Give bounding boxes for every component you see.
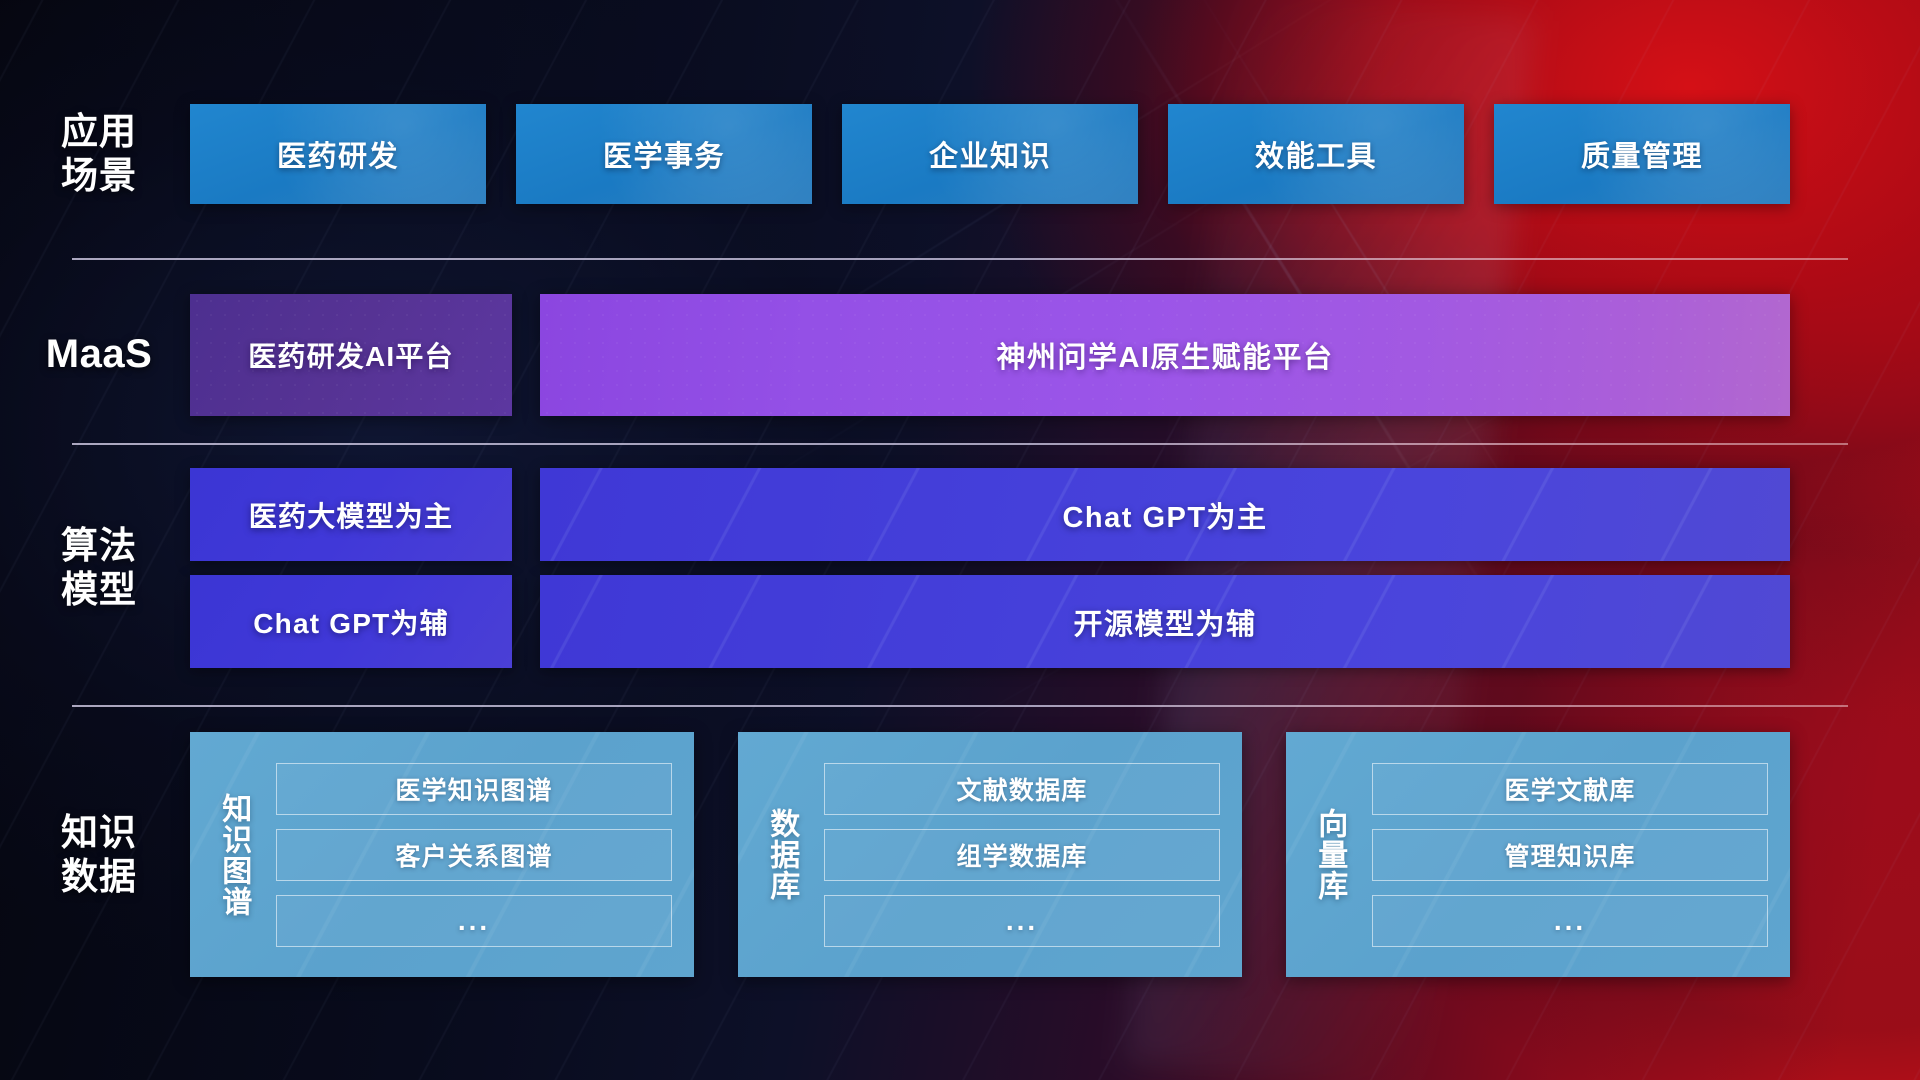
maas-platform-pharma[interactable]: 医药研发AI平台 [190,294,512,416]
algorithm-primary-right[interactable]: Chat GPT为主 [540,468,1790,561]
algorithm-secondary-right[interactable]: 开源模型为辅 [540,575,1790,668]
knowledge-card-database[interactable]: 数据库 文献数据库 组学数据库 ... [738,732,1242,977]
layer-algorithm: 算法 模型 医药大模型为主 Chat GPT为主 Chat GPT为辅 开源模型… [0,468,1920,668]
layer-knowledge: 知识 数据 知识图谱 医学知识图谱 客户关系图谱 ... 数据库 文献数据库 组… [0,732,1920,977]
knowledge-chip-more[interactable]: ... [276,895,672,947]
knowledge-card-title: 知识图谱 [204,748,262,961]
knowledge-chip-list: 医学文献库 管理知识库 ... [1372,748,1768,961]
algorithm-secondary-left[interactable]: Chat GPT为辅 [190,575,512,668]
knowledge-chip-label: 医学文献库 [1504,771,1635,807]
scenario-box[interactable]: 医药研发 [190,104,486,204]
knowledge-chip-label: 医学知识图谱 [395,771,552,807]
knowledge-chip-list: 文献数据库 组学数据库 ... [824,748,1220,961]
knowledge-card-title: 向量库 [1300,748,1358,961]
scenario-box[interactable]: 质量管理 [1494,104,1790,204]
knowledge-chip-label: ... [458,905,490,937]
knowledge-chip[interactable]: 客户关系图谱 [276,829,672,881]
maas-platform-pharma-label: 医药研发AI平台 [248,335,454,375]
scenario-box[interactable]: 效能工具 [1168,104,1464,204]
knowledge-chip-label: 管理知识库 [1504,837,1635,873]
layer-maas: MaaS 医药研发AI平台 神州问学AI原生赋能平台 [0,294,1920,416]
knowledge-chip-label: 客户关系图谱 [395,837,552,873]
algorithm-secondary-left-label: Chat GPT为辅 [253,602,449,642]
scenario-box-label: 医药研发 [277,133,399,175]
layer-divider-2 [72,443,1848,445]
knowledge-card-vector[interactable]: 向量库 医学文献库 管理知识库 ... [1286,732,1790,977]
algorithm-secondary-right-label: 开源模型为辅 [1073,601,1256,643]
knowledge-chip-label: ... [1006,905,1038,937]
algorithm-primary-left[interactable]: 医药大模型为主 [190,468,512,561]
algorithm-row: Chat GPT为辅 开源模型为辅 [190,575,1790,668]
knowledge-chip[interactable]: 医学文献库 [1372,763,1768,815]
layer-label-scenarios: 应用 场景 [0,110,190,197]
layer-divider-1 [72,258,1848,260]
knowledge-chip[interactable]: 医学知识图谱 [276,763,672,815]
scenario-box-label: 医学事务 [603,133,725,175]
knowledge-card-group: 知识图谱 医学知识图谱 客户关系图谱 ... 数据库 文献数据库 组学数据库 .… [190,732,1790,977]
scenario-box[interactable]: 企业知识 [842,104,1138,204]
algorithm-primary-left-label: 医药大模型为主 [249,495,453,535]
scenario-box-label: 质量管理 [1581,133,1703,175]
layer-label-maas: MaaS [0,331,190,378]
knowledge-chip[interactable]: 文献数据库 [824,763,1220,815]
scenario-box-label: 企业知识 [929,133,1051,175]
maas-platform-shenzhou[interactable]: 神州问学AI原生赋能平台 [540,294,1790,416]
algorithm-primary-right-label: Chat GPT为主 [1062,494,1267,536]
knowledge-chip-label: 文献数据库 [956,771,1087,807]
layer-scenarios: 应用 场景 医药研发 医学事务 企业知识 效能工具 质量管理 [0,104,1920,204]
knowledge-chip-more[interactable]: ... [824,895,1220,947]
knowledge-chip-label: ... [1554,905,1586,937]
algorithm-row: 医药大模型为主 Chat GPT为主 [190,468,1790,561]
knowledge-card-graph[interactable]: 知识图谱 医学知识图谱 客户关系图谱 ... [190,732,694,977]
scenario-box[interactable]: 医学事务 [516,104,812,204]
knowledge-chip[interactable]: 管理知识库 [1372,829,1768,881]
knowledge-chip-more[interactable]: ... [1372,895,1768,947]
knowledge-card-title: 数据库 [752,748,810,961]
knowledge-chip-list: 医学知识图谱 客户关系图谱 ... [276,748,672,961]
layer-divider-3 [72,705,1848,707]
algorithm-box-group: 医药大模型为主 Chat GPT为主 Chat GPT为辅 开源模型为辅 [190,468,1790,668]
layer-label-algorithm: 算法 模型 [0,524,190,611]
scenario-box-group: 医药研发 医学事务 企业知识 效能工具 质量管理 [190,104,1790,204]
knowledge-chip-label: 组学数据库 [956,837,1087,873]
maas-platform-shenzhou-label: 神州问学AI原生赋能平台 [996,334,1333,376]
knowledge-chip[interactable]: 组学数据库 [824,829,1220,881]
scenario-box-label: 效能工具 [1255,133,1377,175]
layer-label-knowledge: 知识 数据 [0,811,190,898]
maas-box-group: 医药研发AI平台 神州问学AI原生赋能平台 [190,294,1790,416]
